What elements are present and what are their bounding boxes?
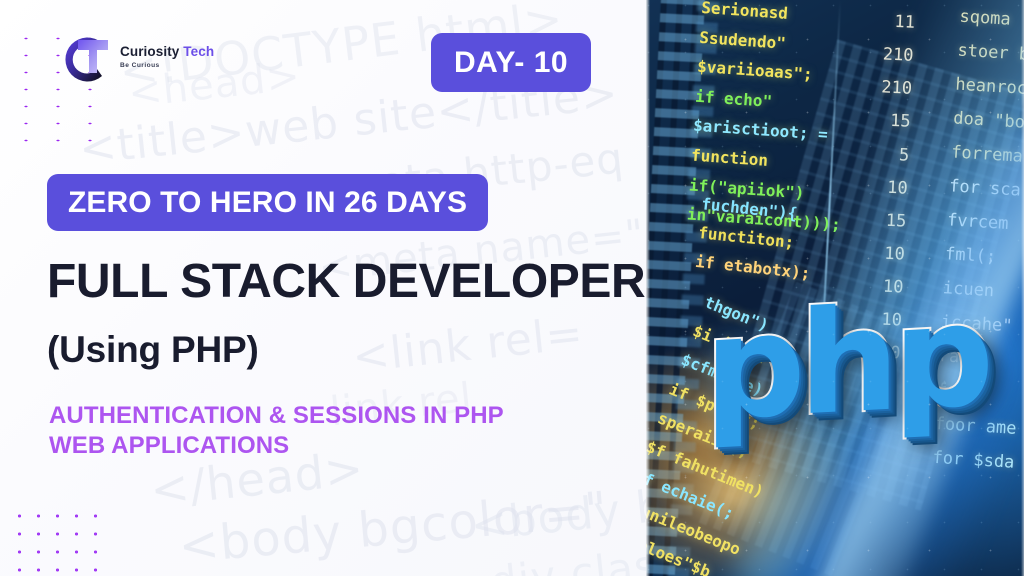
php-hero-image: Serionasd Ssudendo" $variioaas"; if echo… bbox=[646, 0, 1024, 576]
particle-specks bbox=[646, 0, 1024, 576]
topic-line-1: AUTHENTICATION & SESSIONS IN PHP bbox=[49, 401, 609, 431]
topic-text: AUTHENTICATION & SESSIONS IN PHP WEB APP… bbox=[49, 401, 609, 461]
page-title: FULL STACK DEVELOPER bbox=[47, 258, 645, 306]
brand-name-secondary: Tech bbox=[183, 44, 214, 59]
watermark-code-line: <body bgcolor=" bbox=[468, 459, 646, 551]
brand-logo[interactable]: Curiosity Tech Be Curious bbox=[56, 28, 214, 90]
dot-grid-bottom-left bbox=[8, 505, 98, 576]
watermark-code-line: <link rel= bbox=[350, 308, 586, 383]
page-subtitle: (Using PHP) bbox=[47, 331, 259, 368]
brand-wordmark: Curiosity Tech Be Curious bbox=[120, 45, 214, 73]
series-badge: ZERO TO HERO IN 26 DAYS bbox=[47, 174, 488, 231]
brand-name-primary: Curiosity bbox=[120, 44, 179, 59]
topic-line-2: WEB APPLICATIONS bbox=[49, 431, 609, 461]
poster-canvas: <!DOCTYPE html> <head> <title>web site</… bbox=[0, 0, 1024, 576]
brand-tagline: Be Curious bbox=[120, 62, 214, 69]
image-left-edge-fade bbox=[646, 0, 650, 576]
day-badge: DAY- 10 bbox=[431, 33, 591, 92]
curiosity-tech-monogram-icon bbox=[56, 28, 118, 90]
left-content-panel: <!DOCTYPE html> <head> <title>web site</… bbox=[0, 0, 646, 576]
